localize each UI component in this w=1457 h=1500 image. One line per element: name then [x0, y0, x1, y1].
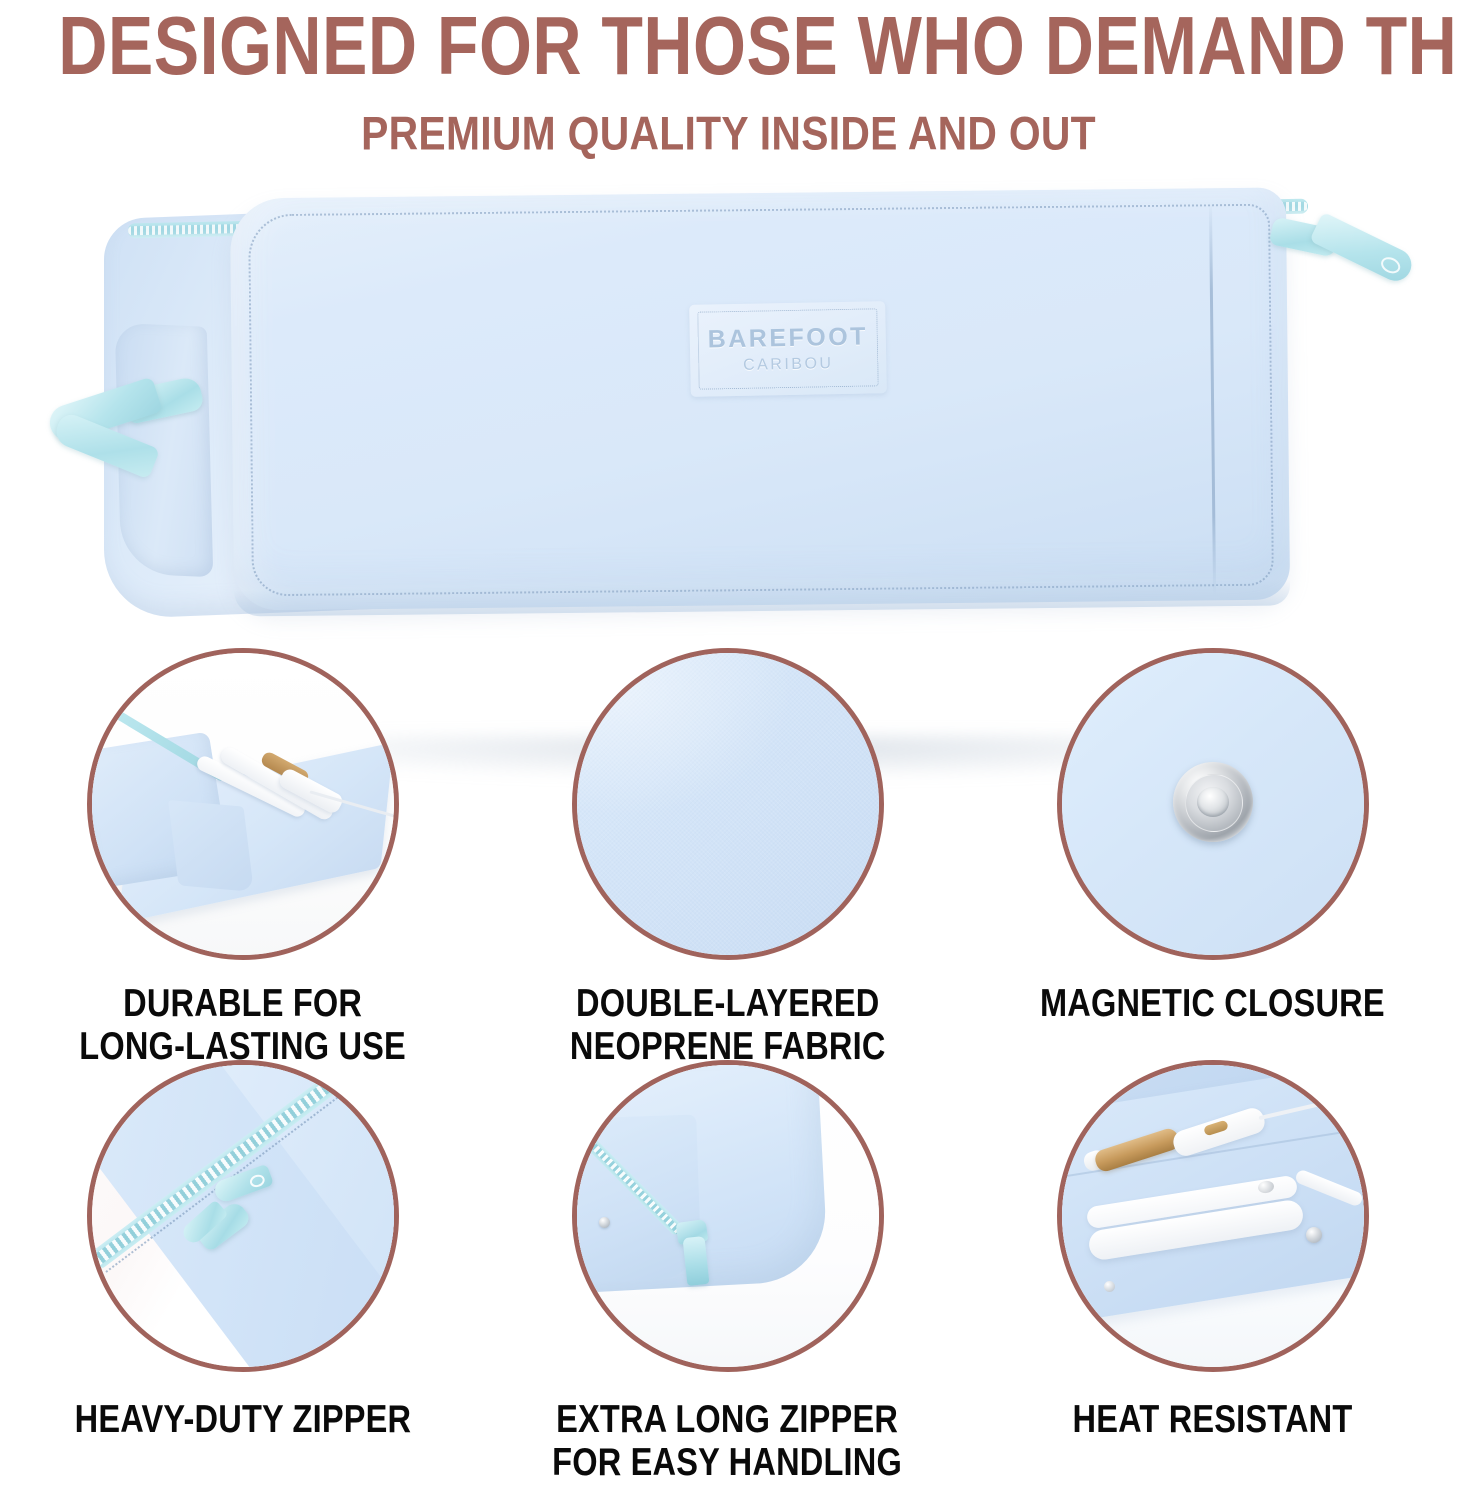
neoprene-fabric — [577, 653, 879, 955]
feature-row-2: HEAVY-DUTY ZIPPER EXTRA LONG ZIPPER FOR … — [0, 1060, 1457, 1476]
header-block: DESIGNED FOR THOSE WHO DEMAND THE BEST P… — [0, 0, 1457, 151]
brand-name-text: BAREFOOT — [707, 324, 868, 352]
feature-item-long-zipper: EXTRA LONG ZIPPER FOR EASY HANDLING — [485, 1060, 970, 1476]
feature-image-long-zipper — [572, 1060, 884, 1372]
brand-label-patch: BAREFOOT CARIBOU — [689, 301, 887, 397]
feature-item-neoprene: DOUBLE-LAYERED NEOPRENE FABRIC — [485, 648, 970, 1060]
hero-product-image: BAREFOOT CARIBOU — [0, 175, 1457, 630]
pouch-front-flap — [230, 187, 1290, 610]
neoprene-sheen — [572, 648, 819, 834]
long-zipper-snap-icon — [599, 1217, 610, 1228]
page-title: DESIGNED FOR THOSE WHO DEMAND THE BEST — [58, 0, 1398, 87]
feature-image-zipper — [87, 1060, 399, 1372]
feature-grid: DURABLE FOR LONG-LASTING USE DOUBLE-LAYE… — [0, 648, 1457, 1477]
feature-image-neoprene — [572, 648, 884, 960]
feature-item-durable: DURABLE FOR LONG-LASTING USE — [0, 648, 485, 1060]
page-subtitle: PREMIUM QUALITY INSIDE AND OUT — [36, 78, 1420, 158]
feature-item-magnetic: MAGNETIC CLOSURE — [970, 648, 1455, 1060]
feature-row-1: DURABLE FOR LONG-LASTING USE DOUBLE-LAYE… — [0, 648, 1457, 1060]
heat-mat-snap-right — [1306, 1227, 1322, 1243]
feature-label-magnetic: MAGNETIC CLOSURE — [1040, 982, 1385, 1025]
flap-stitching — [248, 204, 1274, 597]
brand-sub-text: CARIBOU — [743, 356, 834, 374]
feature-label-durable: DURABLE FOR LONG-LASTING USE — [79, 982, 406, 1068]
feature-item-heat: HEAT RESISTANT — [970, 1060, 1455, 1476]
feature-label-long-zipper: EXTRA LONG ZIPPER FOR EASY HANDLING — [553, 1398, 903, 1484]
feature-item-zipper: HEAVY-DUTY ZIPPER — [0, 1060, 485, 1476]
feature-image-heat — [1057, 1060, 1369, 1372]
feature-label-neoprene: DOUBLE-LAYERED NEOPRENE FABRIC — [570, 982, 886, 1068]
long-zipper-pull-tab — [682, 1236, 709, 1286]
durable-flap-fold — [168, 800, 254, 892]
feature-image-magnetic — [1057, 648, 1369, 960]
feature-label-zipper: HEAVY-DUTY ZIPPER — [74, 1398, 411, 1441]
magnetic-snap-dome — [1197, 787, 1229, 817]
magnetic-snap-button-icon — [1173, 762, 1253, 842]
heat-mat-snap-left — [1104, 1281, 1115, 1292]
feature-image-durable — [87, 648, 399, 960]
left-zipper-pull — [30, 373, 230, 513]
feature-label-heat: HEAT RESISTANT — [1073, 1398, 1353, 1441]
right-zipper-pull — [1265, 219, 1415, 329]
